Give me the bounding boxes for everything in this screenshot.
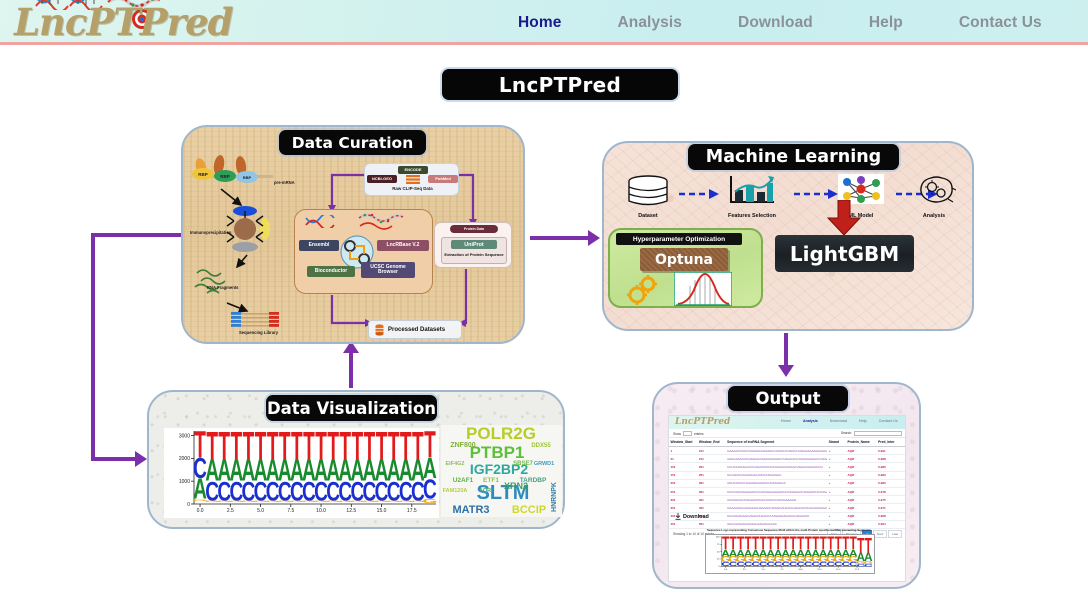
output-mini-header: LncPTPred Home Analysis Download Help Co…: [669, 416, 905, 429]
cell-sequence: AAGCAAGCUGUAGUGCAGUAAGGGCCUGAGACCUCAGGAG…: [726, 455, 827, 463]
connector-curation-left-bottom: [91, 457, 139, 461]
cell-strand: +: [827, 447, 846, 455]
svg-text:7.5: 7.5: [287, 508, 294, 514]
cell-window-start: 101: [669, 463, 697, 471]
cell-pred-inter: 0.988: [877, 455, 905, 463]
dna-icon-small: [305, 215, 339, 228]
wordcloud-term: MATR3: [452, 504, 489, 516]
wordcloud-term: AQR: [479, 488, 491, 494]
arrow-ml-to-output: [778, 365, 794, 377]
svg-text:1000: 1000: [179, 479, 190, 485]
connector-viz-to-curation: [349, 352, 353, 388]
svg-text:2.5: 2.5: [743, 569, 747, 571]
db-box-ensembl[interactable]: Ensembl: [299, 240, 339, 251]
cell-window-end: 201: [697, 463, 725, 471]
wordcloud-term: TARDBP: [520, 477, 547, 484]
output-logo-caption: Sequence Logo representing Consensus Seq…: [683, 528, 895, 532]
cell-pred-inter: 0.980: [877, 479, 905, 487]
download-icon: [675, 513, 681, 520]
page-title-text: LncPTPred: [499, 73, 621, 97]
cell-pred-inter: 0.983: [877, 471, 905, 479]
svg-text:2000: 2000: [179, 456, 190, 462]
panel-data-curation: RBP RBP RBP: [181, 125, 525, 344]
db-box-encode[interactable]: ENCODE: [398, 166, 428, 174]
svg-text:50: 50: [717, 551, 720, 553]
cell-sequence: CCUCAGGAGUCCUAGAUCUUGCAAUGGCUGACUGAUGGAC…: [726, 463, 827, 471]
table-header-row: Window_Start Window_End Sequence of lncR…: [669, 438, 905, 447]
cell-strand: +: [827, 455, 846, 463]
cell-strand: +: [827, 479, 846, 487]
table-row[interactable]: 301401ACGAGCUUCAGAACUGACUUGCCUUUGAAGAG+A…: [669, 496, 905, 504]
cell-sequence: GAAGACCUGCUAAGAUGAAGGCUUUUUCUGUCUUGUAAGA…: [726, 447, 827, 455]
cell-window-start: 1: [669, 447, 697, 455]
resource-databases-card: Ensembl LncRBase V.2 Bioconductor UCSC G…: [294, 209, 433, 294]
brand-logo[interactable]: LncPTPred: [6, 0, 286, 44]
connector-curation-to-ml: [530, 236, 592, 240]
panel-title-machine-learning-text: Machine Learning: [706, 147, 881, 167]
stack-icon: [406, 175, 420, 185]
optuna-label: Optuna: [655, 252, 713, 268]
output-mini-brand: LncPTPred: [675, 417, 730, 427]
table-row[interactable]: 351451UGAAGUGCAGUAAGUAAGGCUAGGCAUGCCUAGA…: [669, 504, 905, 512]
cell-strand: +: [827, 504, 846, 512]
cell-strand: +: [827, 471, 846, 479]
ml-step-dataset: Dataset: [618, 175, 678, 219]
entries-label: entries: [694, 432, 704, 436]
distribution-curve-icon: [674, 272, 732, 306]
svg-text:12.5: 12.5: [346, 508, 356, 514]
th-pred-inter[interactable]: Pred_Inter: [877, 438, 905, 447]
svg-text:17.5: 17.5: [407, 508, 417, 514]
lightgbm-box[interactable]: LightGBM: [775, 235, 914, 272]
svg-text:10.0: 10.0: [799, 569, 804, 571]
th-window-end[interactable]: Window_End: [697, 438, 725, 447]
output-sequence-logo-thumbnail: 02550751000.02.55.07.510.012.515.017.5 T…: [705, 534, 875, 574]
svg-text:C: C: [864, 563, 874, 567]
wordcloud-term: HNRNPK: [551, 482, 558, 512]
output-nav-help[interactable]: Help: [859, 419, 867, 423]
output-table-controls: Show entries Search:: [669, 429, 905, 438]
cell-pred-inter: 0.991: [877, 447, 905, 455]
svg-text:10.0: 10.0: [316, 508, 326, 514]
table-row[interactable]: 1101GAAGACCUGCUAAGAUGAAGGCUUUUUCUGUCUUGU…: [669, 447, 905, 455]
red-down-arrow-icon: [826, 200, 862, 236]
output-nav-download[interactable]: Download: [830, 419, 847, 423]
cell-sequence: AGUCUUCCUGAAGGGUAUCUCAAGGCA: [726, 479, 827, 487]
cell-sequence: GCUUCAGAACUGACUUGCCUUUGAAGAGUCCUAGAUCU: [726, 512, 827, 520]
cell-window-end: 451: [697, 504, 725, 512]
nav-item-analysis[interactable]: Analysis: [589, 14, 710, 32]
svg-text:100: 100: [716, 537, 720, 539]
panel-title-data-curation: Data Curation: [279, 130, 426, 155]
output-screenshot: LncPTPred Home Analysis Download Help Co…: [668, 415, 906, 582]
svg-text:3000: 3000: [179, 433, 190, 439]
database-icon: [375, 324, 384, 336]
svg-text:7.5: 7.5: [780, 569, 784, 571]
table-row[interactable]: 151251GCUGACUGAUGGACUUCUUGAAGAC+AQR0.983: [669, 471, 905, 479]
protein-data-badge: Protein Data: [450, 225, 498, 233]
connector-curation-left-top: [91, 233, 183, 237]
panel-title-machine-learning: Machine Learning: [688, 144, 899, 170]
download-label: Download: [683, 514, 709, 520]
connector-ml-to-output: [784, 333, 788, 369]
db-box-ncbi-geo[interactable]: NCBI-GEO: [367, 175, 397, 183]
th-protein-name[interactable]: Protein_Name: [846, 438, 877, 447]
svg-text:15.0: 15.0: [836, 569, 841, 571]
brain-gear-icon: [912, 174, 956, 207]
gears-icon: [624, 274, 662, 306]
cell-strand: +: [827, 512, 846, 520]
panel-title-output-text: Output: [755, 389, 820, 408]
cell-window-end: 351: [697, 487, 725, 495]
wordcloud-term: POLR2G: [466, 425, 536, 443]
cell-protein-name: AQR: [846, 479, 877, 487]
cell-protein-name: AQR: [846, 512, 877, 520]
wordcloud-term: U2AF1: [453, 477, 474, 484]
hyperparameter-optimization-card: Hyperparameter Optimization Optuna: [608, 228, 763, 308]
cell-window-end: 101: [697, 447, 725, 455]
table-row[interactable]: 51151AAGCAAGCUGUAGUGCAGUAAGGGCCUGAGACCUC…: [669, 455, 905, 463]
svg-text:5.0: 5.0: [762, 569, 766, 571]
output-nav-contact[interactable]: Contact Us: [879, 419, 898, 423]
cell-window-start: 251: [669, 487, 697, 495]
wordcloud-term: GRWD1: [534, 461, 554, 467]
cell-window-start: 201: [669, 479, 697, 487]
cell-window-end: 401: [697, 496, 725, 504]
panel-title-data-curation-text: Data Curation: [292, 134, 414, 152]
database-icon: [626, 175, 670, 207]
entries-per-page-select[interactable]: Show entries: [673, 431, 704, 436]
uniprot-card: Protein Data UniProt Extraction of Prote…: [434, 222, 512, 268]
search-label: Search:: [841, 431, 852, 435]
output-nav-home[interactable]: Home: [781, 419, 791, 423]
cell-protein-name: AQR: [846, 471, 877, 479]
svg-text:75: 75: [717, 544, 720, 546]
cell-protein-name: AQR: [846, 463, 877, 471]
ml-step-analysis-label: Analysis: [904, 213, 964, 219]
processed-datasets-label: Processed Datasets: [388, 327, 445, 333]
ml-step-features-selection: Features Selection: [712, 174, 792, 219]
wordcloud-term: DDX55: [531, 443, 551, 449]
raw-clip-seq-card: ENCODE NCBI-GEO PubMed Raw CLIP-Seq Data: [364, 163, 459, 196]
cell-pred-inter: 0.971: [877, 504, 905, 512]
optuna-box[interactable]: Optuna: [640, 248, 728, 271]
th-sequence[interactable]: Sequence of lncRNA Segment: [726, 438, 827, 447]
cell-window-end: 151: [697, 455, 725, 463]
arrow-to-visualization: [135, 451, 147, 467]
svg-text:17.5: 17.5: [855, 569, 860, 571]
processed-datasets-card[interactable]: Processed Datasets: [368, 320, 462, 339]
cell-window-end: 251: [697, 471, 725, 479]
svg-text:2.5: 2.5: [227, 508, 234, 514]
db-box-pubmed[interactable]: PubMed: [428, 175, 458, 183]
svg-text:G: G: [423, 498, 438, 504]
search-input[interactable]: [854, 431, 902, 437]
entries-select-box[interactable]: [683, 431, 692, 436]
hpo-badge-label: Hyperparameter Optimization: [633, 236, 725, 243]
uniprot-label: UniProt: [451, 240, 497, 249]
cell-protein-name: AQR: [846, 496, 877, 504]
logo-letter-C: C: [864, 563, 874, 567]
download-link[interactable]: Download: [675, 513, 709, 520]
th-strand[interactable]: Strand: [827, 438, 846, 447]
cell-pred-inter: 0.985: [877, 463, 905, 471]
cell-strand: +: [827, 487, 846, 495]
page-title: LncPTPred: [442, 69, 678, 100]
logo-letter-G: G: [423, 498, 438, 504]
cell-protein-name: AQR: [846, 455, 877, 463]
svg-text:25: 25: [717, 559, 720, 561]
table-search[interactable]: Search:: [841, 431, 902, 437]
show-label: Show: [673, 432, 681, 436]
cell-pred-inter: 0.978: [877, 487, 905, 495]
cell-protein-name: AQR: [846, 504, 877, 512]
cell-window-start: 151: [669, 471, 697, 479]
arrow-curation-to-ml: [588, 230, 600, 246]
cell-pred-inter: 0.975: [877, 496, 905, 504]
wordcloud-chart: POLR2G PTBP1 IGF2BP2 SLTM MATR3 BCCIP XR…: [441, 425, 562, 517]
db-box-bioconductor[interactable]: Bioconductor: [307, 266, 355, 277]
wordcloud-term: FAM120A: [443, 488, 468, 494]
panel-title-data-visualization: Data Visualization: [266, 395, 437, 421]
svg-text:15.0: 15.0: [377, 508, 387, 514]
output-mini-nav: Home Analysis Download Help Contact Us: [781, 419, 898, 423]
panel-title-output: Output: [728, 386, 848, 411]
lightgbm-label: LightGBM: [790, 242, 899, 266]
cell-strand: +: [827, 463, 846, 471]
nav-item-home[interactable]: Home: [490, 14, 589, 32]
cell-window-end: 301: [697, 479, 725, 487]
cell-window-start: 51: [669, 455, 697, 463]
wordcloud-term: ZNF800: [450, 442, 475, 449]
output-nav-analysis[interactable]: Analysis: [803, 419, 818, 423]
uniprot-caption: Extraction of Protein Sequence: [437, 252, 511, 257]
nav-item-help[interactable]: Help: [841, 14, 931, 32]
connector-curation-left-vertical: [91, 233, 95, 461]
ml-step-features-selection-label: Features Selection: [712, 213, 792, 219]
nav-item-contact-us[interactable]: Contact Us: [931, 14, 1070, 32]
cell-sequence: UGCCUUGAGAUACCCUUCAGGAAGACUCCAAGAUCUAGGA…: [726, 487, 827, 495]
table-row[interactable]: 251351UGCCUUGAGAUACCCUUCAGGAAGACUCCAAGAU…: [669, 487, 905, 495]
wordcloud-term: PTBP1: [470, 443, 525, 462]
nav-item-download[interactable]: Download: [710, 14, 841, 32]
brand-name: LncPTPred: [14, 0, 233, 44]
db-box-lncrbase[interactable]: LncRBase V.2: [377, 240, 429, 251]
wordcloud-term: ETF1: [483, 477, 499, 484]
table-row[interactable]: 101201CCUCAGGAGUCCUAGAUCUUGCAAUGGCUGACUG…: [669, 463, 905, 471]
wordcloud-term: BCCIP: [512, 504, 546, 516]
cell-sequence: UGAAGUGCAGUAAGUAAGGCUAGGCAUGCCUAGAUCUUGC…: [726, 504, 827, 512]
th-window-start[interactable]: Window_Start: [669, 438, 697, 447]
cell-sequence: GCUGACUGAUGGACUUCUUGAAGAC: [726, 471, 827, 479]
cell-protein-name: AQR: [846, 487, 877, 495]
wordcloud-term: SBSE7: [513, 461, 533, 467]
cell-strand: +: [827, 496, 846, 504]
cell-window-start: 301: [669, 496, 697, 504]
ml-step-dataset-label: Dataset: [618, 213, 678, 219]
cell-window-start: 351: [669, 504, 697, 512]
rna-icon-small: [357, 212, 405, 230]
ml-step-analysis: Analysis: [904, 174, 964, 219]
main-nav: Home Analysis Download Help Contact Us: [490, 0, 1070, 45]
cell-protein-name: AQR: [846, 447, 877, 455]
cell-pred-inter: 0.968: [877, 512, 905, 520]
svg-text:0: 0: [187, 502, 190, 508]
cell-sequence: ACGAGCUUCAGAACUGACUUGCCUUUGAAGAG: [726, 496, 827, 504]
svg-text:5.0: 5.0: [257, 508, 264, 514]
raw-clip-seq-caption: Raw CLIP-Seq Data: [365, 186, 460, 191]
svg-text:0.0: 0.0: [724, 569, 728, 571]
wordcloud-term: EIF4G2: [446, 461, 465, 467]
sequence-logo-chart: 01000200030000.02.55.07.510.012.515.017.…: [164, 428, 439, 518]
site-header: LncPTPred Home Analysis Download Help Co…: [0, 0, 1088, 45]
db-box-ucsc-genome-browser[interactable]: UCSC Genome Browser: [361, 262, 415, 278]
hpo-badge: Hyperparameter Optimization: [616, 233, 742, 245]
bar-chart-icon: [728, 174, 776, 207]
svg-text:0: 0: [718, 566, 720, 568]
panel-title-data-visualization-text: Data Visualization: [267, 399, 436, 418]
table-row[interactable]: 201301AGUCUUCCUGAAGGGUAUCUCAAGGCA+AQR0.9…: [669, 479, 905, 487]
svg-text:0.0: 0.0: [197, 508, 204, 514]
svg-text:12.5: 12.5: [817, 569, 822, 571]
